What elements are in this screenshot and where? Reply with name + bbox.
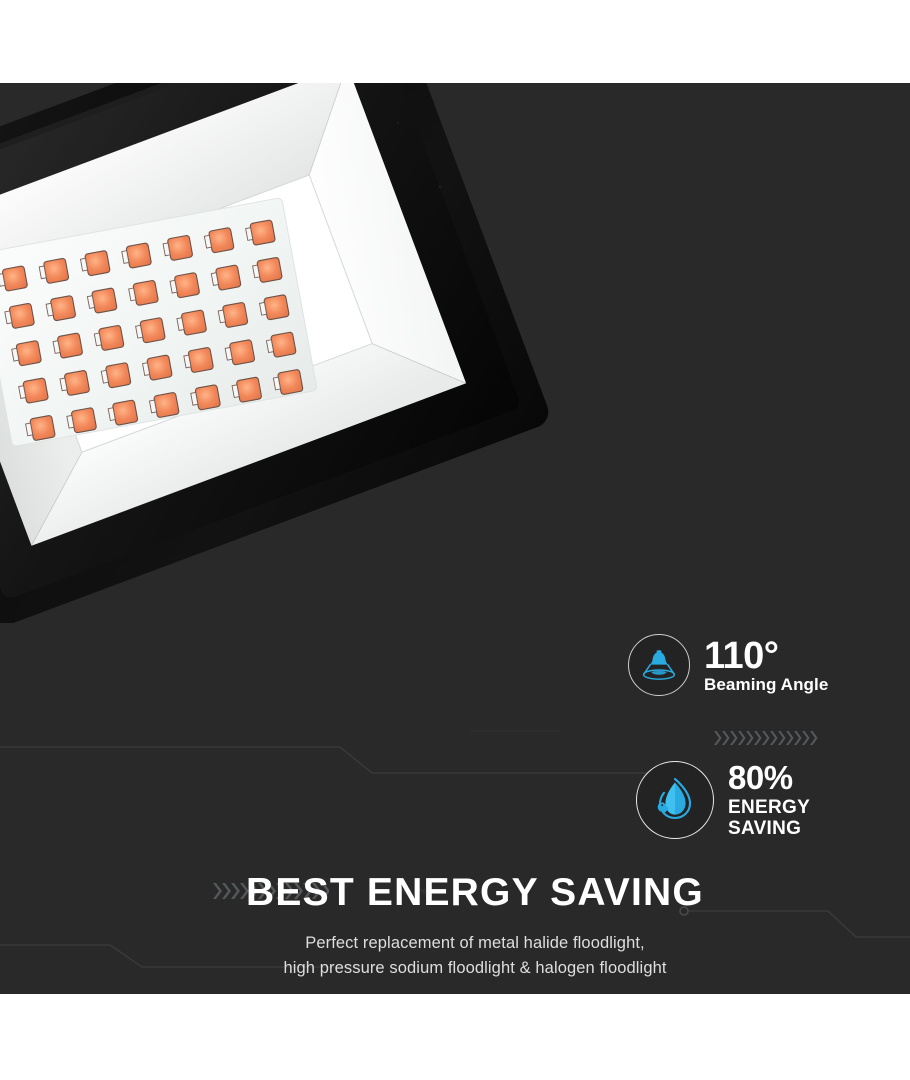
feature-energy-saving: 80% ENERGY SAVING <box>636 761 810 839</box>
leaf-plug-icon <box>636 761 714 839</box>
beaming-angle-text: 110° Beaming Angle <box>704 638 828 693</box>
top-white-band <box>0 0 910 83</box>
beaming-angle-label: Beaming Angle <box>704 676 828 693</box>
energy-saving-value: 80% <box>728 762 810 794</box>
beam-lamp-icon <box>628 634 690 696</box>
subtitle-line-1: Perfect replacement of metal halide floo… <box>40 931 910 956</box>
headline-block: BEST ENERGY SAVING <box>0 871 910 915</box>
bottom-white-band <box>0 994 910 1080</box>
beaming-angle-value: 110° <box>704 638 828 674</box>
energy-saving-label-line2: SAVING <box>728 818 801 839</box>
dark-panel: 110° Beaming Angle <box>0 83 910 994</box>
chevron-strip-top <box>714 731 818 745</box>
feature-beaming-angle: 110° Beaming Angle <box>628 634 828 696</box>
subtitle-block: Perfect replacement of metal halide floo… <box>0 931 910 981</box>
subtitle-line-2: high pressure sodium floodlight & haloge… <box>40 956 910 981</box>
energy-saving-label: ENERGY SAVING <box>728 797 810 839</box>
energy-saving-label-line1: ENERGY <box>728 797 810 818</box>
poster-stage: 110° Beaming Angle <box>0 0 910 1080</box>
energy-saving-text: 80% ENERGY SAVING <box>728 762 810 839</box>
led-floodlight-image <box>0 83 610 623</box>
page-title: BEST ENERGY SAVING <box>40 871 910 915</box>
